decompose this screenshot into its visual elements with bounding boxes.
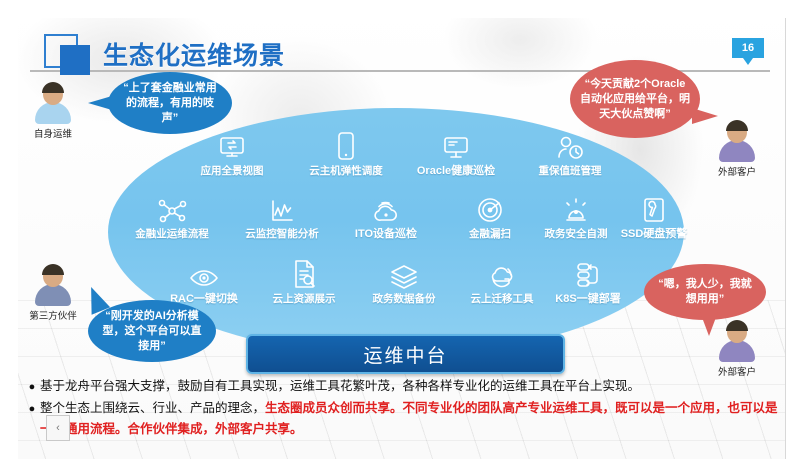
capability-item[interactable]: RAC一键切换 (158, 255, 250, 306)
capability-label: 重保值班管理 (524, 164, 616, 178)
bullet-text: 基于龙舟平台强大支撑，鼓励自有工具实现，运维工具花繁叶茂，各种各样专业化的运维工… (40, 376, 780, 397)
canvas-edge-left (0, 0, 18, 469)
persona-label: 自身运维 (16, 126, 90, 140)
bubble-self-ops: “上了套金融业常用的流程，有用的吱声” (108, 72, 232, 134)
capability-item[interactable]: 重保值班管理 (524, 127, 616, 178)
capability-label: 云上资源展示 (258, 292, 350, 306)
capability-item[interactable]: ITO设备巡检 (340, 190, 432, 241)
bubble-external-bottom-tail (700, 312, 718, 336)
bubble-external-top: “今天贡献2个Oracle自动化应用给平台，明天大伙点赞啊” (570, 60, 700, 138)
bullet-marker-icon: ● (24, 398, 40, 420)
avatar (31, 262, 75, 306)
capability-item[interactable]: 金融业运维流程 (126, 190, 218, 241)
canvas-edge-bottom (0, 459, 800, 469)
layers-icon (358, 255, 450, 289)
capability-label: ITO设备巡检 (340, 227, 432, 241)
ops-platform-banner: 运维中台 (246, 334, 565, 374)
disk-tool-icon (608, 190, 700, 224)
bullet-list: ●基于龙舟平台强大支撑，鼓励自有工具实现，运维工具花繁叶茂，各种各样专业化的运维… (24, 376, 780, 440)
avatar (715, 118, 759, 162)
radar-scan-icon (444, 190, 536, 224)
capability-item[interactable]: 云上迁移工具 (456, 255, 548, 306)
chart-line-icon (236, 190, 328, 224)
capability-label: 云监控智能分析 (236, 227, 328, 241)
canvas-edge-top (0, 0, 800, 18)
bullet-text-segment: 整个生态上围绕云、行业、产品的理念， (40, 401, 265, 415)
canvas-edge-right (785, 0, 800, 469)
capability-label: SSD硬盘预警 (608, 227, 700, 241)
persona-label: 外部客户 (700, 164, 774, 178)
monitor-sync-icon (186, 127, 278, 161)
page-number-badge: 16 (732, 38, 764, 58)
bubble-partner: “刚开发的AI分析模型，这个平台可以直接用” (88, 300, 216, 362)
cloud-sync-icon (456, 255, 548, 289)
prev-slide-button[interactable]: ‹ (46, 415, 70, 441)
persona-label: 第三方伙伴 (16, 308, 90, 322)
persona-partner: 第三方伙伴 (16, 262, 90, 322)
capability-label: 云主机弹性调度 (300, 164, 392, 178)
cloud-wifi-icon (340, 190, 432, 224)
network-nodes-icon (126, 190, 218, 224)
desktop-icon (410, 127, 502, 161)
persona-self-ops: 自身运维 (16, 80, 90, 140)
bullet-text-segment: 基于龙舟平台强大支撑，鼓励自有工具实现，运维工具花繁叶茂，各种各样专业化的运维工… (40, 379, 640, 393)
mobile-device-icon (300, 127, 392, 161)
capability-item[interactable]: Oracle健康巡检 (410, 127, 502, 178)
bullet-text: 整个生态上围绕云、行业、产品的理念，生态圈成员众创而共享。不同专业化的团队高产专… (40, 398, 780, 440)
eye-icon (158, 255, 250, 289)
bullet-marker-icon: ● (24, 376, 40, 398)
bubble-external-top-tail (692, 108, 718, 124)
capability-item[interactable]: 云上资源展示 (258, 255, 350, 306)
capability-item[interactable]: SSD硬盘预警 (608, 190, 700, 241)
capability-label: 金融漏扫 (444, 227, 536, 241)
capability-label: 云上迁移工具 (456, 292, 548, 306)
page-title: 生态化运维场景 (103, 36, 285, 72)
capability-label: Oracle健康巡检 (410, 164, 502, 178)
capability-item[interactable]: 政务数据备份 (358, 255, 450, 306)
capability-label: 应用全景视图 (186, 164, 278, 178)
deploy-nodes-icon (542, 255, 634, 289)
capability-item[interactable]: 应用全景视图 (186, 127, 278, 178)
capability-item[interactable]: 云主机弹性调度 (300, 127, 392, 178)
logo-square-filled-icon (60, 45, 90, 75)
capability-item[interactable]: 云监控智能分析 (236, 190, 328, 241)
capability-label: K8S一键部署 (542, 292, 634, 306)
capability-item[interactable]: 金融漏扫 (444, 190, 536, 241)
bullet-row: ●基于龙舟平台强大支撑，鼓励自有工具实现，运维工具花繁叶茂，各种各样专业化的运维… (24, 376, 780, 398)
bubble-self-ops-tail (88, 96, 112, 110)
persona-external-customer-top: 外部客户 (700, 118, 774, 178)
avatar (715, 318, 759, 362)
capability-item[interactable]: K8S一键部署 (542, 255, 634, 306)
capability-label: 金融业运维流程 (126, 227, 218, 241)
bullet-row: ●整个生态上围绕云、行业、产品的理念，生态圈成员众创而共享。不同专业化的团队高产… (24, 398, 780, 440)
avatar (31, 80, 75, 124)
document-search-icon (258, 255, 350, 289)
slide-canvas: 生态化运维场景 16 应用全景视图云主机弹性调度Oracle健康巡检重保值班管理… (0, 0, 800, 469)
capability-label: 政务数据备份 (358, 292, 450, 306)
